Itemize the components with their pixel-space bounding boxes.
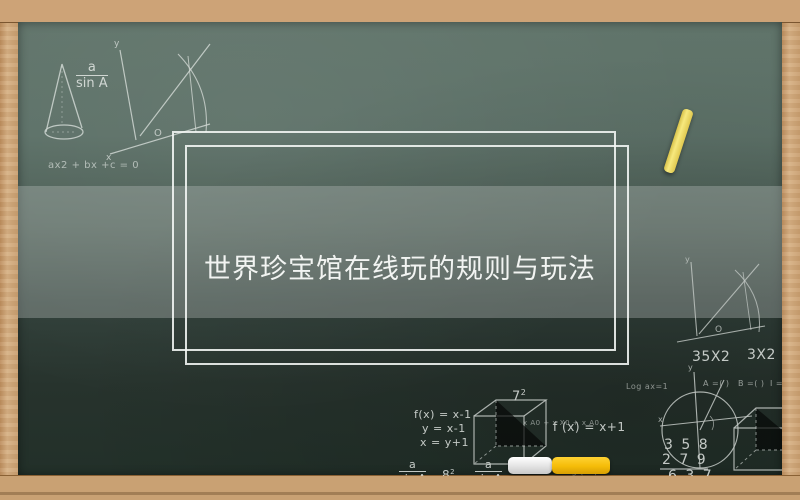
cube-drawing-right <box>728 400 782 476</box>
fraction-a-over-sin-a-topleft: a sin A <box>76 61 108 90</box>
seven-base: 7 <box>512 389 521 404</box>
chalk-ledge <box>0 475 800 500</box>
svg-text:y: y <box>688 363 693 372</box>
svg-text:O: O <box>715 325 722 335</box>
matrix-i-text: I =( ) <box>770 379 782 388</box>
inverse-function-text: f (x) = x+1 <box>553 420 625 434</box>
eight-power: 2 <box>450 468 455 476</box>
function-line-3: x = y+1 <box>420 436 469 449</box>
svg-text:x: x <box>658 415 663 424</box>
fraction-numerator: a <box>76 61 108 75</box>
inverse-function-label: f (x) = x+1 <box>553 420 625 434</box>
svg-text:x: x <box>106 153 112 163</box>
frame-left-rail <box>0 0 18 500</box>
fraction-numerator: a <box>399 459 426 471</box>
sum-result-text: 6 3 7 <box>668 468 714 476</box>
white-chalk-on-ledge <box>508 457 552 474</box>
svg-text:y: y <box>114 39 120 49</box>
page-title: 世界珍宝馆在线玩的规则与玩法 <box>18 247 782 286</box>
fraction-a-over-sin-a-bottom-1: a sin A <box>399 459 426 476</box>
eight-squared-text: 82 <box>442 468 455 476</box>
fraction-denominator: sin A <box>475 471 502 476</box>
function-line-1: f(x) = x-1 <box>414 408 472 421</box>
chalkboard-surface: a sin A ax2 + bx +c = 0 y x O <box>18 22 782 476</box>
chalkboard-banner: a sin A ax2 + bx +c = 0 y x O <box>0 0 800 500</box>
ledge-lip <box>0 492 800 495</box>
fraction-a-over-sin-a-bottom-2: a sin A <box>475 459 502 476</box>
function-line-2: y = x-1 <box>422 422 466 435</box>
seven-squared-text: 72 <box>512 388 526 404</box>
frame-top-rail <box>0 0 800 23</box>
yellow-chalk-on-ledge <box>552 457 610 474</box>
svg-text:O: O <box>154 128 162 139</box>
fraction-denominator: sin A <box>399 471 426 476</box>
fraction-numerator: a <box>475 459 502 471</box>
frame-right-rail <box>782 0 800 500</box>
seven-power: 2 <box>521 388 527 397</box>
eight-base: 8 <box>442 468 450 476</box>
sum-row-1-text: 3 5 8 <box>664 437 710 453</box>
sum-row-2-text: 2 7 9 <box>662 452 708 468</box>
fraction-denominator: sin A <box>76 75 108 91</box>
